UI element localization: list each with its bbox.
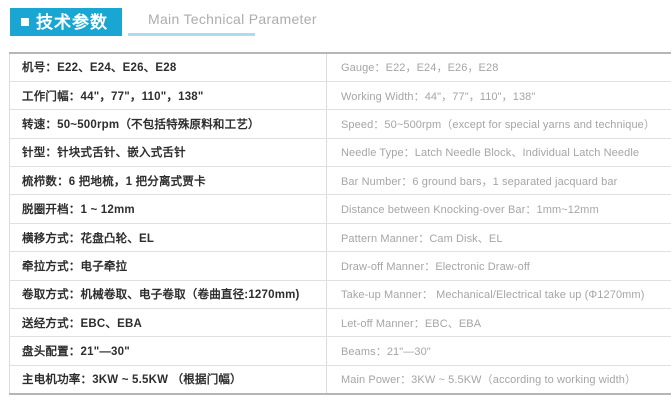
spec-label-cn: 主电机功率：3KW ~ 5.5KW （根据门幅） — [10, 365, 327, 393]
table-row: 送经方式：EBC、EBA Let-off Manner：EBC、EBA — [10, 309, 671, 337]
section-header: 技术参数 Main Technical Parameter — [0, 0, 671, 46]
spec-label-en: Pattern Manner：Cam Disk、EL — [327, 223, 671, 251]
spec-label-en: Working Width：44"，77"，110"，138" — [327, 81, 671, 109]
spec-label-cn: 卷取方式：机械卷取、电子卷取（卷曲直径:1270mm) — [10, 280, 327, 308]
table-row: 卷取方式：机械卷取、电子卷取（卷曲直径:1270mm) Take-up Mann… — [10, 280, 671, 308]
spec-label-cn: 送经方式：EBC、EBA — [10, 309, 327, 337]
section-badge: 技术参数 — [10, 8, 122, 36]
table-row: 牵拉方式：电子牵拉 Draw-off Manner：Electronic Dra… — [10, 252, 671, 280]
technical-parameter-table: 机号：E22、E24、E26、E28 Gauge：E22，E24，E26，E28… — [9, 52, 671, 395]
table-body: 机号：E22、E24、E26、E28 Gauge：E22，E24，E26，E28… — [10, 53, 671, 394]
section-badge-label: 技术参数 — [36, 14, 108, 31]
spec-label-cn: 横移方式：花盘凸轮、EL — [10, 223, 327, 251]
spec-label-en: Main Power：3KW ~ 5.5KW（according to work… — [327, 365, 671, 393]
spec-label-cn: 牵拉方式：电子牵拉 — [10, 252, 327, 280]
table-row: 转速：50~500rpm（不包括特殊原料和工艺） Speed：50~500rpm… — [10, 110, 671, 138]
spec-label-cn: 针型：针块式舌针、嵌入式舌针 — [10, 138, 327, 166]
spec-label-en: Speed：50~500rpm（except for special yarns… — [327, 110, 671, 138]
spec-label-cn: 工作门幅：44"，77"，110"，138" — [10, 81, 327, 109]
table-row: 梳栉数：6 把地梳，1 把分离式贾卡 Bar Number：6 ground b… — [10, 167, 671, 195]
spec-label-en: Bar Number：6 ground bars，1 separated jac… — [327, 167, 671, 195]
table-row: 横移方式：花盘凸轮、EL Pattern Manner：Cam Disk、EL — [10, 223, 671, 251]
spec-label-en: Draw-off Manner：Electronic Draw-off — [327, 252, 671, 280]
table-row: 机号：E22、E24、E26、E28 Gauge：E22，E24，E26，E28 — [10, 53, 671, 81]
spec-label-cn: 梳栉数：6 把地梳，1 把分离式贾卡 — [10, 167, 327, 195]
table-row: 工作门幅：44"，77"，110"，138" Working Width：44"… — [10, 81, 671, 109]
spec-label-cn: 盘头配置：21"—30" — [10, 337, 327, 365]
spec-label-cn: 转速：50~500rpm（不包括特殊原料和工艺） — [10, 110, 327, 138]
spec-label-cn: 脱圈开档：1 ~ 12mm — [10, 195, 327, 223]
spec-label-cn: 机号：E22、E24、E26、E28 — [10, 53, 327, 81]
table-row: 盘头配置：21"—30" Beams：21"—30" — [10, 337, 671, 365]
header-underline — [128, 33, 255, 36]
spec-label-en: Beams：21"—30" — [327, 337, 671, 365]
table-row: 针型：针块式舌针、嵌入式舌针 Needle Type：Latch Needle … — [10, 138, 671, 166]
section-subtitle: Main Technical Parameter — [148, 12, 317, 26]
table-row: 脱圈开档：1 ~ 12mm Distance between Knocking-… — [10, 195, 671, 223]
spec-label-en: Distance between Knocking-over Bar：1mm~1… — [327, 195, 671, 223]
spec-label-en: Gauge：E22，E24，E26，E28 — [327, 53, 671, 81]
square-bullet-icon — [21, 18, 29, 26]
table-row: 主电机功率：3KW ~ 5.5KW （根据门幅） Main Power：3KW … — [10, 365, 671, 393]
spec-label-en: Needle Type：Latch Needle Block、Individua… — [327, 138, 671, 166]
spec-label-en: Take-up Manner： Mechanical/Electrical ta… — [327, 280, 671, 308]
spec-label-en: Let-off Manner：EBC、EBA — [327, 309, 671, 337]
